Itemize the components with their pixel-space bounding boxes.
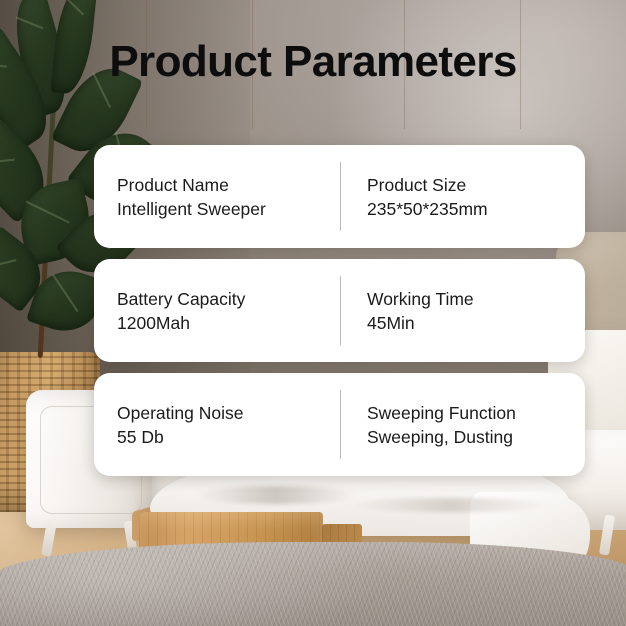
spec-cell-right: Working Time 45Min — [340, 287, 585, 335]
card-divider — [340, 276, 341, 345]
spec-card: Battery Capacity 1200Mah Working Time 45… — [94, 259, 585, 362]
overlay-content: Product Parameters Product Name Intellig… — [0, 0, 626, 626]
spec-label: Product Size — [367, 173, 585, 197]
spec-card: Product Name Intelligent Sweeper Product… — [94, 145, 585, 248]
spec-cell-left: Product Name Intelligent Sweeper — [94, 173, 340, 221]
product-parameters-banner: Product Parameters Product Name Intellig… — [0, 0, 626, 626]
spec-value: 45Min — [367, 311, 585, 335]
spec-cell-right: Product Size 235*50*235mm — [340, 173, 585, 221]
spec-label: Sweeping Function — [367, 401, 585, 425]
spec-value: 235*50*235mm — [367, 197, 585, 221]
spec-value: 55 Db — [117, 425, 340, 449]
page-title: Product Parameters — [0, 38, 626, 86]
card-divider — [340, 390, 341, 459]
spec-cell-right: Sweeping Function Sweeping, Dusting — [340, 401, 585, 449]
spec-value: Intelligent Sweeper — [117, 197, 340, 221]
spec-label: Operating Noise — [117, 401, 340, 425]
spec-value: 1200Mah — [117, 311, 340, 335]
spec-cell-left: Operating Noise 55 Db — [94, 401, 340, 449]
card-divider — [340, 162, 341, 231]
spec-value: Sweeping, Dusting — [367, 425, 585, 449]
spec-label: Product Name — [117, 173, 340, 197]
spec-label: Working Time — [367, 287, 585, 311]
spec-card-list: Product Name Intelligent Sweeper Product… — [94, 145, 585, 476]
spec-label: Battery Capacity — [117, 287, 340, 311]
spec-cell-left: Battery Capacity 1200Mah — [94, 287, 340, 335]
spec-card: Operating Noise 55 Db Sweeping Function … — [94, 373, 585, 476]
